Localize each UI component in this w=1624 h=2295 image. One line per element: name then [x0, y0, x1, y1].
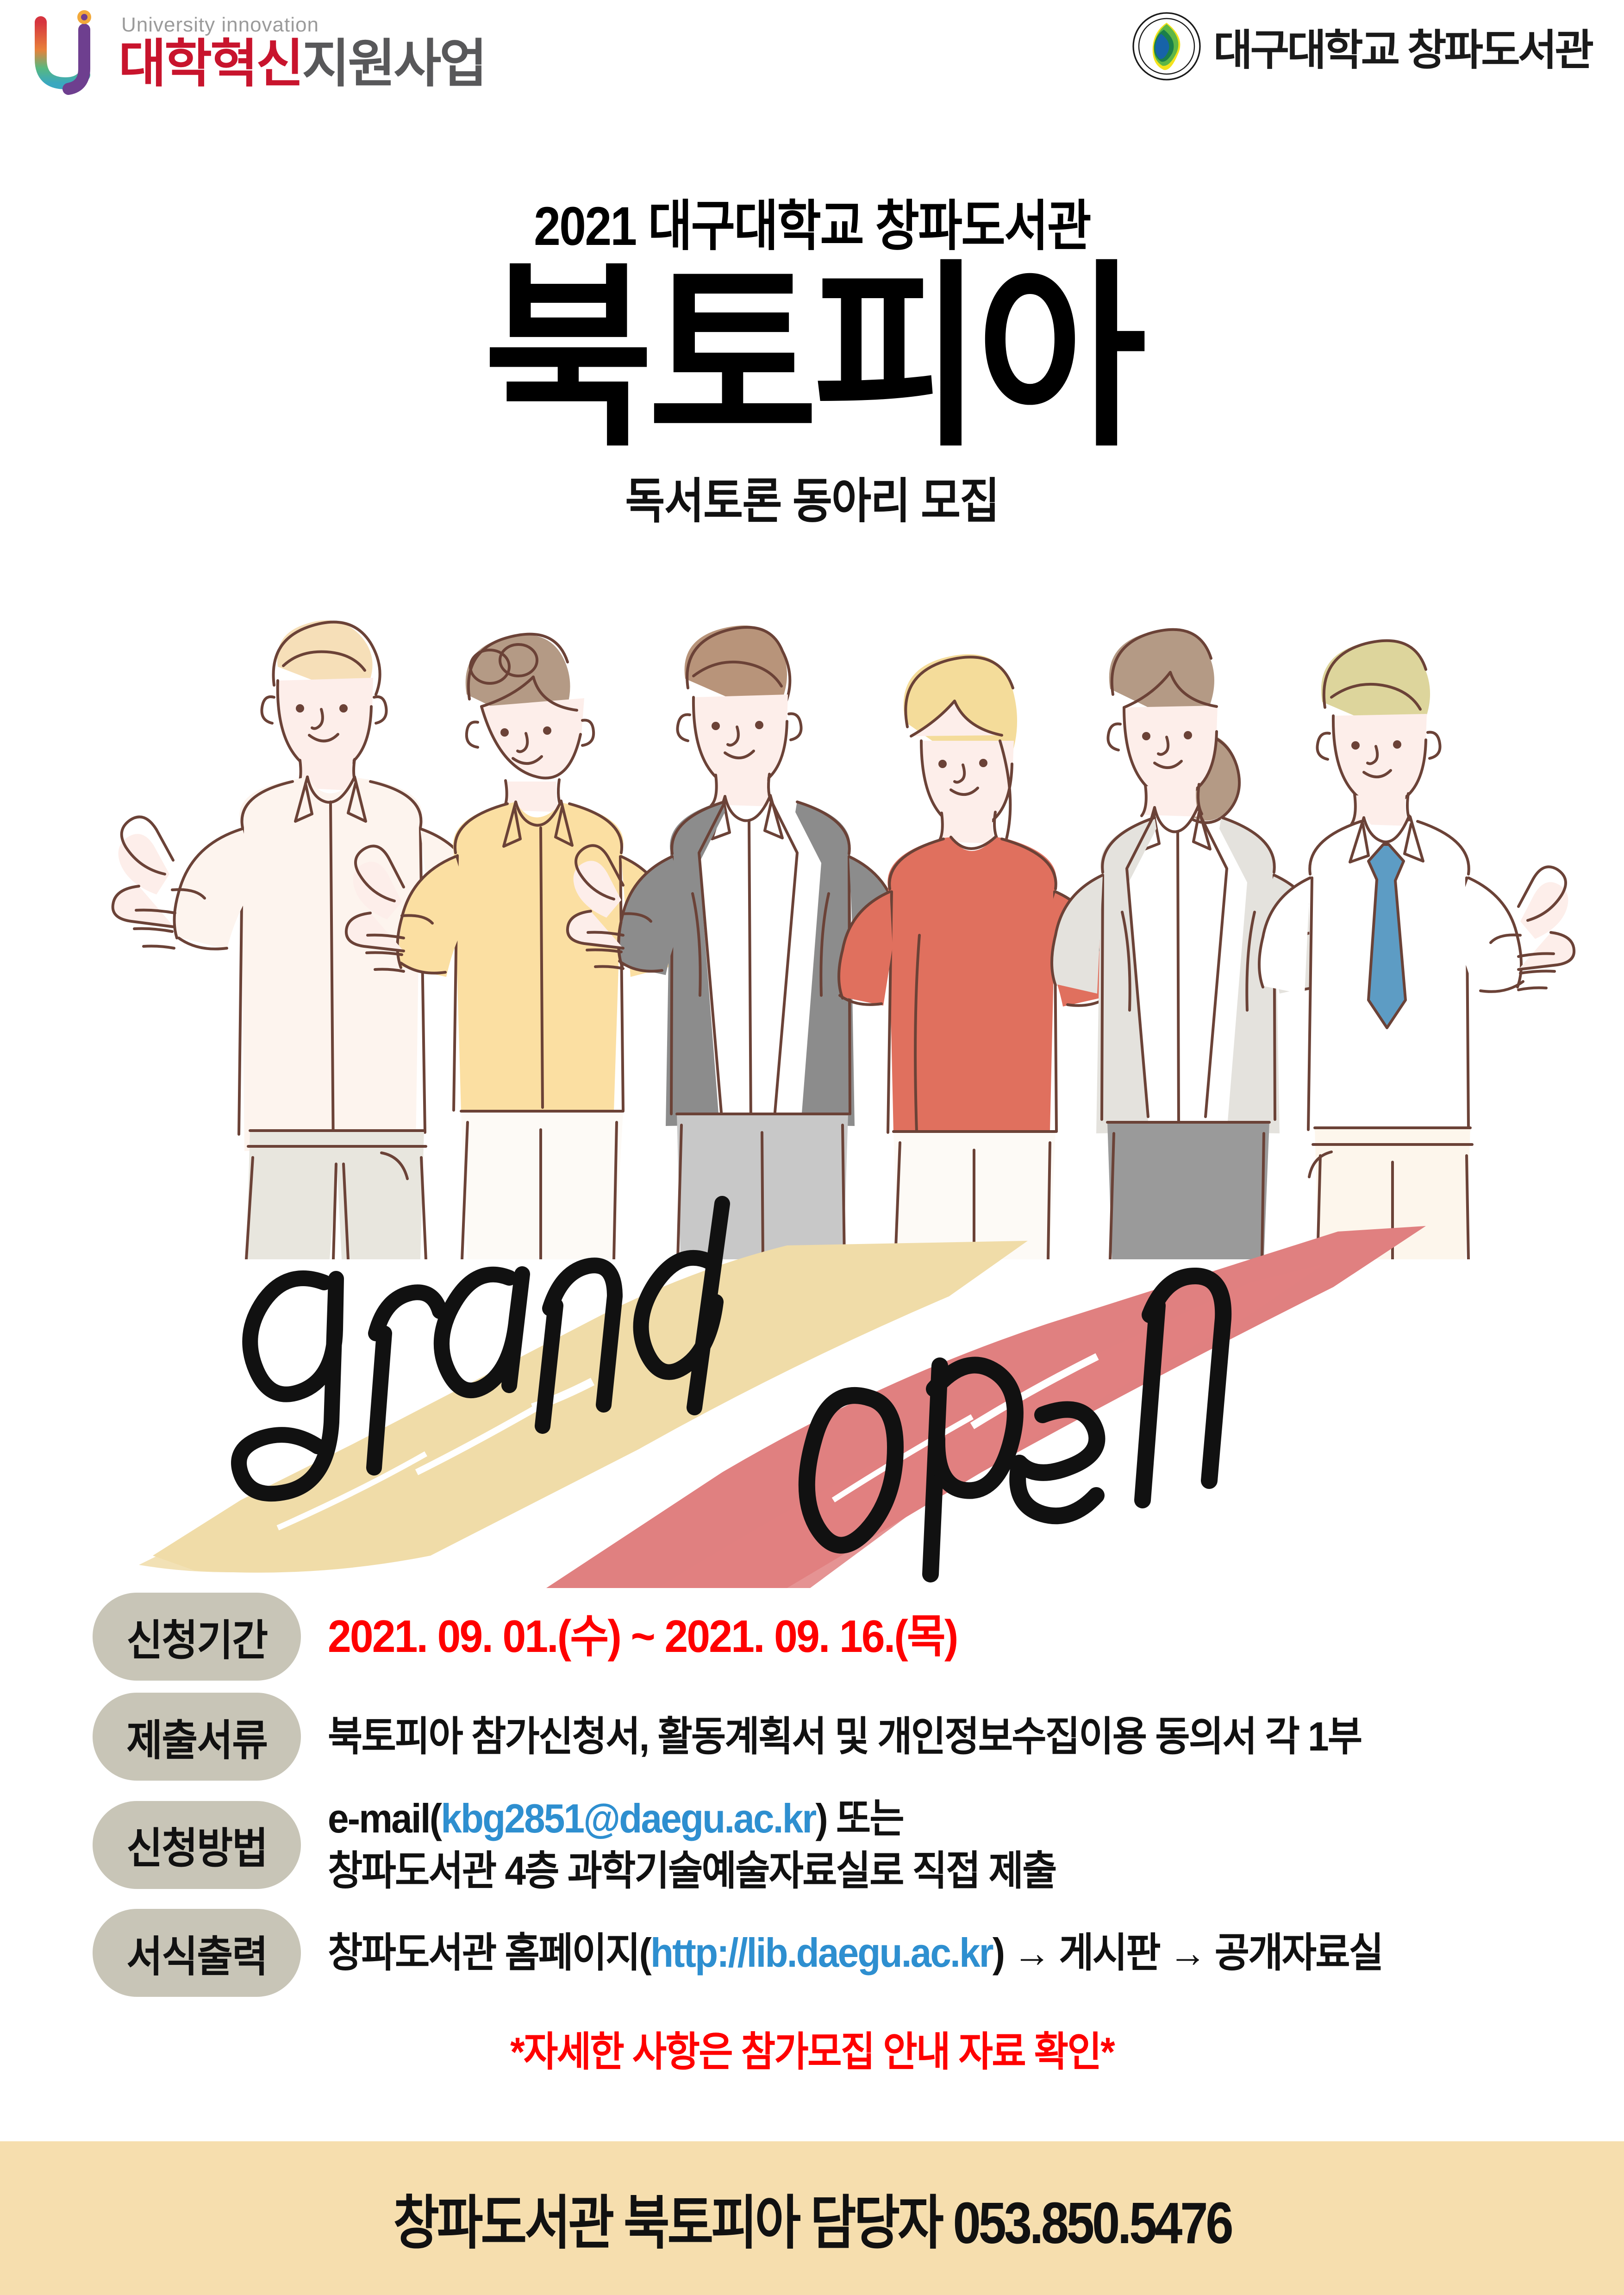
- info-label-text: 제출서류: [126, 1706, 267, 1768]
- poster-title-block: 2021 대구대학교 창파도서관 북토피아 독서토론 동아리 모집: [0, 199, 1624, 532]
- info-label-pill: 제출서류: [93, 1693, 301, 1781]
- required-documents-value: 북토피아 참가신청서, 활동계획서 및 개인정보수집이용 동의서 각 1부: [328, 1711, 1533, 1763]
- ui-logo-main-gray: 지원사업: [302, 35, 485, 93]
- daegu-university-library-logo: 대구대학교 창파도서관: [1132, 12, 1592, 81]
- application-method-inperson-line: 창파도서관 4층 과학기술예술자료실로 직접 제출: [328, 1845, 1533, 1897]
- info-label-text: 신청방법: [126, 1814, 267, 1876]
- info-row-form-download: 서식출력 창파도서관 홈페이지(http://lib.daegu.ac.kr) …: [0, 1909, 1624, 1997]
- homepage-suffix: ) → 게시판 → 공개자료실: [993, 1930, 1382, 1976]
- homepage-prefix: 창파도서관 홈페이지(: [328, 1930, 650, 1976]
- poster-subtitle: 독서토론 동아리 모집: [81, 462, 1543, 532]
- email-prefix: e-mail(: [328, 1795, 441, 1841]
- info-section: 신청기간 2021. 09. 01.(수) ~ 2021. 09. 16.(목)…: [0, 1593, 1624, 2078]
- info-label-text: 서식출력: [126, 1922, 267, 1984]
- homepage-link[interactable]: http://lib.daegu.ac.kr: [650, 1930, 993, 1976]
- info-label-pill: 신청기간: [93, 1593, 301, 1681]
- info-label-text: 신청기간: [126, 1606, 267, 1668]
- info-value-block: 2021. 09. 01.(수) ~ 2021. 09. 16.(목): [328, 1607, 1624, 1665]
- info-label-pill: 신청방법: [93, 1801, 301, 1889]
- application-method-email-line: e-mail(kbg2851@daegu.ac.kr) 또는: [328, 1793, 1533, 1845]
- daegu-university-seal-icon: [1132, 12, 1201, 81]
- detail-notice: *자세한 사항은 참가모집 안내 자료 확인*: [65, 2019, 1559, 2078]
- poster-pretitle: 2021 대구대학교 창파도서관: [97, 199, 1526, 254]
- footer-contact-bar: 창파도서관 북토피아 담당자 053.850.5476: [0, 2141, 1624, 2295]
- email-link[interactable]: kbg2851@daegu.ac.kr: [441, 1795, 815, 1841]
- info-row-required-documents: 제출서류 북토피아 참가신청서, 활동계획서 및 개인정보수집이용 동의서 각 …: [0, 1693, 1624, 1781]
- university-innovation-logo: University innovation 대학혁신지원사업: [32, 9, 485, 95]
- info-label-pill: 서식출력: [93, 1909, 301, 1997]
- application-period-value: 2021. 09. 01.(수) ~ 2021. 09. 16.(목): [328, 1607, 1533, 1665]
- ui-logo-mark-icon: [32, 9, 106, 95]
- footer-contact-text: 창파도서관 북토피아 담당자 053.850.5476: [393, 2176, 1231, 2260]
- info-row-application-period: 신청기간 2021. 09. 01.(수) ~ 2021. 09. 16.(목): [0, 1593, 1624, 1681]
- form-download-line: 창파도서관 홈페이지(http://lib.daegu.ac.kr) → 게시판…: [328, 1927, 1533, 1979]
- info-row-application-method: 신청방법 e-mail(kbg2851@daegu.ac.kr) 또는 창파도서…: [0, 1793, 1624, 1897]
- grand-open-artwork: [0, 1148, 1624, 1593]
- page-title: 북토피아: [57, 264, 1567, 453]
- daegu-library-name: 대구대학교 창파도서관: [1213, 16, 1592, 77]
- email-suffix: ) 또는: [815, 1795, 903, 1841]
- info-value-block: 창파도서관 홈페이지(http://lib.daegu.ac.kr) → 게시판…: [328, 1927, 1624, 1979]
- info-value-block: e-mail(kbg2851@daegu.ac.kr) 또는 창파도서관 4층 …: [328, 1793, 1624, 1897]
- ui-logo-main-red: 대학혁신: [119, 35, 302, 93]
- info-value-block: 북토피아 참가신청서, 활동계획서 및 개인정보수집이용 동의서 각 1부: [328, 1711, 1624, 1763]
- ui-logo-subtitle: University innovation: [121, 15, 485, 35]
